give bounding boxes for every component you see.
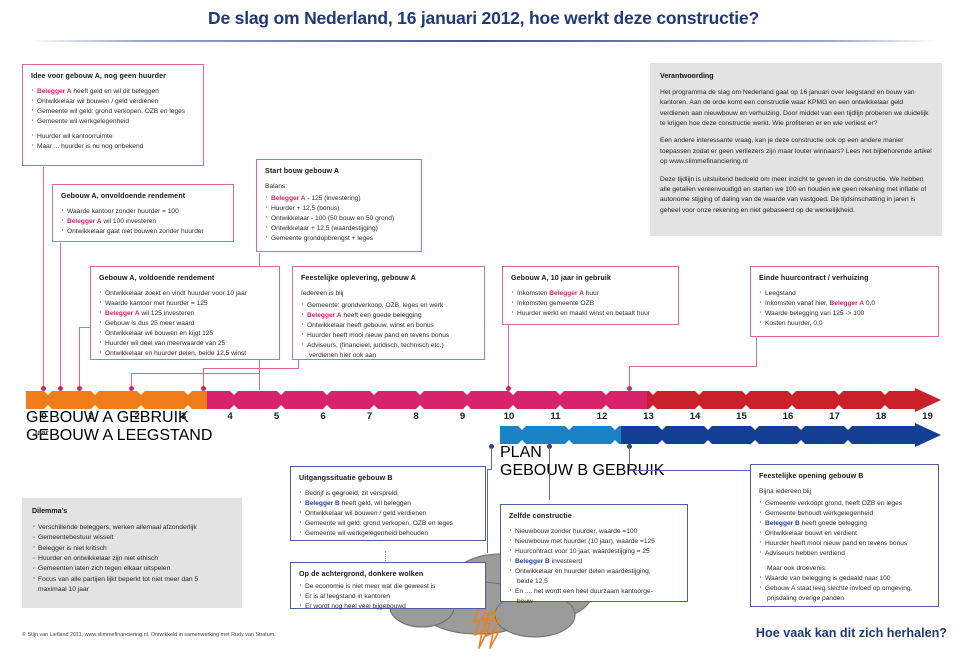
title-divider: [28, 40, 939, 42]
panel-heading: Verantwoording: [660, 71, 932, 82]
timeline-notch: [751, 426, 759, 430]
list-item: Gemeente wil geld: grond verkopen, OZB e…: [299, 519, 477, 529]
box-list: LeegstandInkomsten vanaf hier, Belegger …: [759, 289, 930, 329]
list-item: Gemeente grondopbrengst + leges: [265, 234, 413, 244]
list-item: Belegger B heeft goede belegging: [759, 519, 930, 529]
connector-einde-v: [756, 337, 757, 366]
panel-heading: Dilemma's: [32, 506, 232, 517]
list-item: Nieuwbouw zonder huurder, waarde =100: [509, 527, 679, 537]
list-item: Focus van alle partijen lijkt beperkt to…: [32, 575, 232, 585]
panel-body: Het programma de slag om Nederland gaat …: [660, 88, 932, 216]
highlight-term: Belegger A: [37, 88, 72, 95]
box-heading: Einde huurcontract / verhuizing: [759, 273, 930, 284]
timeline-notch: [704, 440, 712, 444]
list-item: Ontwikkelaar wil bouwen en kijgt 125: [99, 329, 271, 339]
box-zelfde-constructie: Zelfde constructie Nieuwbouw zonder huur…: [500, 504, 688, 602]
list-item: Gebouw A staat leeg slechte invloed op o…: [759, 584, 930, 594]
paragraph: Een andere interessante vraag, kan je de…: [660, 136, 932, 167]
highlight-term: Belegger A: [105, 310, 140, 317]
timeline-notch: [137, 391, 145, 395]
list-item: Gemeente verkoopt grond, heeft OZB en le…: [759, 499, 930, 509]
page-title: De slag om Nederland, 16 januari 2012, h…: [0, 8, 967, 29]
list-item: Inkomsten Belegger A huur: [511, 289, 670, 299]
connector-zelfde-v: [549, 447, 550, 500]
timeline-notch: [788, 405, 796, 409]
list-item: Belegger A - 125 (investering): [265, 194, 413, 204]
box-heading: Gebouw A, voldoende rendement: [99, 273, 271, 284]
list-item: Belegger A heeft geld en wil dit belegge…: [31, 87, 195, 97]
timeline-notch: [797, 440, 805, 444]
list-item: Belegger B investeerd: [509, 557, 679, 567]
timeline-notch: [323, 405, 331, 409]
connector-einde-h: [629, 366, 757, 367]
box-heading: Feestelijke oplevering, gebouw A: [301, 273, 476, 284]
year-tick-13: 13: [639, 411, 659, 422]
list-item: Gemeente behoudt werkgelegenheid: [759, 509, 930, 519]
list-item: Maar ook droevenis:: [759, 564, 930, 574]
timeline-notch: [695, 405, 703, 409]
list-item: Ontwikkelaar en huurder delen, beide 12,…: [99, 349, 271, 359]
list-item: Nieuwbouw met huurder (10 jaar), waarde …: [509, 537, 679, 547]
timeline-notch: [704, 426, 712, 430]
timeline-notch: [649, 405, 657, 409]
highlight-term: Belegger A: [549, 290, 584, 297]
list-item: Ontwikkelaar gaat niet bouwen zonder huu…: [61, 227, 225, 237]
year-tick-3: 3: [174, 411, 194, 422]
panel-dilemmas: Dilemma's Verschillende beleggers, werke…: [22, 498, 242, 608]
panel-verantwoording: Verantwoording Het programma de slag om …: [650, 63, 942, 236]
box-voldoende-rendement: Gebouw A, voldoende rendement Ontwikkela…: [90, 266, 280, 360]
connector-oplevering-a-h: [203, 368, 299, 369]
list-item: Ontwikkelaar + 12,5 (waardestijging): [265, 224, 413, 234]
connector-oplevering-a: [298, 360, 299, 368]
timeline-notch: [416, 405, 424, 409]
list-item: Huurder wil kantoorruimte: [31, 132, 195, 142]
box-10-jaar-in-gebruik: Gebouw A, 10 jaar in gebruik Inkomsten B…: [502, 266, 679, 325]
list-item: Huurcontract voor 10 jaar, waardestijgin…: [509, 547, 679, 557]
highlight-term: Belegger B: [515, 558, 550, 565]
box-heading: Gebouw A, 10 jaar in gebruik: [511, 273, 670, 284]
highlight-term: Belegger B: [305, 500, 340, 507]
year-tick-1: 1: [81, 411, 101, 422]
timeline-notch: [509, 405, 517, 409]
timeline-top: GEBOUW A PLANNING GEBOUW A GEBRUIK GEBOU…: [26, 391, 941, 409]
year-tick-0: 0: [34, 411, 54, 422]
box-heading: Zelfde constructie: [509, 511, 679, 522]
year-tick-15: 15: [732, 411, 752, 422]
list-item: verdienen hier ook aan: [301, 351, 476, 361]
list-item: Waarde kantoor zonder huurder = 100: [61, 207, 225, 217]
connector-start-bouw-h: [131, 373, 260, 374]
list-item: Inkomsten vanaf hier, Belegger A 0,0: [759, 299, 930, 309]
list-item: Kosten huurder, 0,0: [759, 319, 930, 329]
box-heading: Feestelijke opening gebouw B: [759, 471, 930, 482]
timeline-notch: [565, 440, 573, 444]
list-item: Er wordt nog heel veel bijgebouwd: [299, 602, 477, 612]
timeline-bottom-arrowhead: [915, 423, 941, 447]
timeline-notch: [742, 405, 750, 409]
timeline-notch: [230, 405, 238, 409]
lightning-bolt-icon: [470, 608, 510, 656]
timeline-notch: [751, 440, 759, 444]
timeline-notch: [277, 391, 285, 395]
list-item: Inkomsten gemeente OZB: [511, 299, 670, 309]
box-list: Gemeente: grondverkoop, OZB, leges en we…: [301, 301, 476, 361]
timeline-notch: [44, 391, 52, 395]
box-intro: Balans:: [265, 182, 413, 192]
connector-10jaar: [508, 325, 509, 390]
box-list: De economie is niet meer wat die geweest…: [299, 582, 477, 612]
list-item: prijsdaling overige panden: [759, 594, 930, 604]
box-heading: Idee voor gebouw A, nog geen huurder: [31, 71, 195, 82]
timeline-notch: [602, 405, 610, 409]
year-tick-12: 12: [592, 411, 612, 422]
year-tick-9: 9: [453, 411, 473, 422]
list-item: Adviseurs hebben verdiend: [759, 549, 930, 559]
box-feestelijke-opening-b: Feestelijke opening gebouw B Bijna ieder…: [750, 464, 939, 607]
timeline-notch: [277, 405, 285, 409]
box-list: Gemeente verkoopt grond, heeft OZB en le…: [759, 499, 930, 604]
box-onvoldoende-rendement: Gebouw A, onvoldoende rendement Waarde k…: [52, 184, 234, 242]
timeline-notch: [518, 440, 526, 444]
year-tick-17: 17: [825, 411, 845, 422]
box-intro: Bijna iedereen blij: [759, 487, 930, 497]
box-heading: Uitgangssituatie gebouw B: [299, 473, 477, 484]
timeline-notch: [835, 405, 843, 409]
panel-list: Verschillende beleggers, werken allemaal…: [32, 523, 232, 596]
timeline-notch: [323, 391, 331, 395]
timeline-notch: [611, 440, 619, 444]
footer-question: Hoe vaak kan dit zich herhalen?: [756, 626, 947, 640]
list-item: Ontwikkelaar bouwt en verdient: [759, 529, 930, 539]
timeline-notch: [518, 426, 526, 430]
timeline-notch: [742, 391, 750, 395]
year-tick-10: 10: [499, 411, 519, 422]
segment-label-leegstand: GEBOUW A LEEGSTAND: [26, 427, 294, 445]
timeline-notch: [230, 391, 238, 395]
connector-idee: [43, 167, 44, 390]
highlight-term: Belegger A: [67, 218, 102, 225]
connector-uitgang-b-v2: [487, 469, 488, 553]
highlight-term: Belegger B: [765, 520, 800, 527]
timeline-notch: [463, 391, 471, 395]
list-item: Er is al leegstand in kantoren: [299, 592, 477, 602]
year-tick-7: 7: [360, 411, 380, 422]
box-list: Bedrijf is gegroeid, zit verspreid,Beleg…: [299, 489, 477, 539]
timeline-axis-label: Jaar: [33, 428, 49, 437]
timeline-notch: [881, 391, 889, 395]
connector-onvoldoende: [60, 243, 61, 390]
list-item: Huurder heeft mooi nieuw pand en tevens …: [759, 539, 930, 549]
year-tick-18: 18: [871, 411, 891, 422]
box-list: Ontwikkelaar zoekt en vindt huurder voor…: [99, 289, 271, 359]
list-item: Huurder wil deel van meerwaarde van 25: [99, 339, 271, 349]
list-item: Waarde belegging van 125 -> 100: [759, 309, 930, 319]
list-item: Gemeente wil werkgelegenheid behouden: [299, 529, 477, 539]
connector-voldoende: [79, 327, 80, 390]
footer-credit: © Stijn van Liefland 2011, www.slimmefin…: [22, 632, 276, 638]
highlight-term: Belegger A: [271, 195, 306, 202]
timeline-notch: [788, 391, 796, 395]
highlight-term: Belegger A: [307, 312, 342, 319]
timeline-notch: [91, 405, 99, 409]
list-item: Waarde van belegging is gedaald naar 100: [759, 574, 930, 584]
timeline-notch: [44, 405, 52, 409]
timeline-notch: [184, 405, 192, 409]
list-item: Bedrijf is gegroeid, zit verspreid,: [299, 489, 477, 499]
timeline-notch: [658, 440, 666, 444]
list-item: Gemeente wil werkgelegenheid: [31, 117, 195, 127]
list-item: Huurder heeft mooi nieuw pand en tevens …: [301, 331, 476, 341]
timeline-notch: [797, 426, 805, 430]
list-item: Belegger B heeft geld, wil beleggen: [299, 499, 477, 509]
year-tick-6: 6: [313, 411, 333, 422]
timeline-notch: [91, 391, 99, 395]
timeline-notch: [565, 426, 573, 430]
box-intro: Iedereen is blij: [301, 289, 476, 299]
segment-gebouw-a-gebruik: [207, 391, 647, 409]
timeline-notch: [370, 405, 378, 409]
box-list: Nieuwbouw zonder huurder, waarde =100Nie…: [509, 527, 679, 607]
list-item: Huurder en ontwikkelaar zijn niet ethisc…: [32, 554, 232, 564]
timeline-notch: [695, 391, 703, 395]
list-item: Gebouw is dus 25 meer waard: [99, 319, 271, 329]
list-item: Ontwikkelaar zoekt en vindt huurder voor…: [99, 289, 271, 299]
year-tick-8: 8: [406, 411, 426, 422]
list-item: Ontwikkelaar wil bouwen / geld verdienen: [299, 509, 477, 519]
connector-opening-b-v: [629, 447, 630, 470]
list-item: bouw: [509, 597, 679, 607]
timeline-notch: [556, 391, 564, 395]
list-item: Gemeenten laten zich tegen elkaar uitspe…: [32, 564, 232, 574]
list-item: Huurder werkt en maakt winst en betaalt …: [511, 309, 670, 319]
year-tick-4: 4: [220, 411, 240, 422]
timeline-notch: [658, 426, 666, 430]
box-list: Belegger A heeft geld en wil dit belegge…: [31, 87, 195, 152]
timeline-years: 012345678910111213141516171819: [26, 411, 941, 425]
timeline-notch: [835, 391, 843, 395]
list-item: Gemeente: grondverkoop, OZB, leges en we…: [301, 301, 476, 311]
connector-uitgang-b-v: [491, 447, 492, 469]
list-item: Leegstand: [759, 289, 930, 299]
list-item: Ontwikkelaar en huurder delen waardestij…: [509, 567, 679, 577]
timeline-notch: [509, 391, 517, 395]
box-uitgangssituatie-gebouw-b: Uitgangssituatie gebouw B Bedrijf is geg…: [290, 466, 486, 541]
timeline-notch: [611, 426, 619, 430]
year-tick-19: 19: [918, 411, 938, 422]
list-item: Ontwikkelaar heeft gebouw, winst en bonu…: [301, 321, 476, 331]
list-item: De economie is niet meer wat die geweest…: [299, 582, 477, 592]
list-item: Belegger is niet kritisch: [32, 544, 232, 554]
timeline-notch: [602, 391, 610, 395]
timeline-top-arrowhead: [915, 388, 941, 412]
list-item: Waarde kantoor met huurder = 125: [99, 299, 271, 309]
list-item: Huurder + 12,5 (bonus): [265, 204, 413, 214]
list-item: Ontwikkelaar wil bouwen / geld verdienen: [31, 97, 195, 107]
connector-opening-b-h: [629, 470, 756, 471]
year-tick-2: 2: [127, 411, 147, 422]
segment-gebouw-a-leegstand: [647, 391, 915, 409]
box-list: Belegger A - 125 (investering)Huurder + …: [265, 194, 413, 244]
timeline-notch: [137, 405, 145, 409]
timeline-notch: [881, 405, 889, 409]
timeline-notch: [556, 405, 564, 409]
list-item: Maar ... huurder is nu nog onbekend: [31, 142, 195, 152]
timeline-notch: [844, 426, 852, 430]
list-item: maximaal 10 jaar: [32, 585, 232, 595]
list-item: Gemeente wil geld: grond verkopen, OZB e…: [31, 107, 195, 117]
infographic-canvas: De slag om Nederland, 16 januari 2012, h…: [0, 0, 967, 656]
timeline-notch: [370, 391, 378, 395]
box-heading: Start bouw gebouw A: [265, 166, 413, 177]
list-item: Ontwikkelaar - 100 (50 bouw en 50 grond): [265, 214, 413, 224]
box-heading: Op de achtergrond, donkere wolken: [299, 569, 477, 580]
box-list: Inkomsten Belegger A huurInkomsten gemee…: [511, 289, 670, 319]
box-einde-huurcontract: Einde huurcontract / verhuizing Leegstan…: [750, 266, 939, 337]
timeline-notch: [416, 391, 424, 395]
list-item: Belegger A wil 125 investeren: [99, 309, 271, 319]
box-start-bouw-gebouw-a: Start bouw gebouw A Balans: Belegger A -…: [256, 159, 422, 252]
box-heading: Gebouw A, onvoldoende rendement: [61, 191, 225, 202]
list-item: Belegger A heeft een goede belegging: [301, 311, 476, 321]
year-tick-5: 5: [267, 411, 287, 422]
timeline-notch: [184, 391, 192, 395]
list-item: Gemeentebestuur wisselt: [32, 533, 232, 543]
box-feestelijke-oplevering-a: Feestelijke oplevering, gebouw A Iederee…: [292, 266, 485, 360]
list-item: beide 12,5: [509, 577, 679, 587]
list-item: En .... het wordt een heel duurzaam kant…: [509, 587, 679, 597]
paragraph: Deze tijdlijn is uitsluitend bedoeld om …: [660, 175, 932, 217]
list-item: Belegger A wil 100 investeren: [61, 217, 225, 227]
list-item: Adviseurs, (financieel, juridisch, techn…: [301, 341, 476, 351]
timeline-notch: [844, 440, 852, 444]
highlight-term: Belegger A: [830, 300, 865, 307]
timeline-notch: [649, 391, 657, 395]
box-idee-gebouw-a: Idee voor gebouw A, nog geen huurder Bel…: [22, 64, 204, 166]
segment-gebouw-a-planning: [26, 391, 207, 409]
timeline-notch: [463, 405, 471, 409]
year-tick-11: 11: [546, 411, 566, 422]
year-tick-16: 16: [778, 411, 798, 422]
paragraph: Het programma de slag om Nederland gaat …: [660, 88, 932, 130]
box-list: Waarde kantoor zonder huurder = 100Beleg…: [61, 207, 225, 237]
year-tick-14: 14: [685, 411, 705, 422]
list-item: Verschillende beleggers, werken allemaal…: [32, 523, 232, 533]
box-donkere-wolken: Op de achtergrond, donkere wolken De eco…: [290, 562, 486, 609]
